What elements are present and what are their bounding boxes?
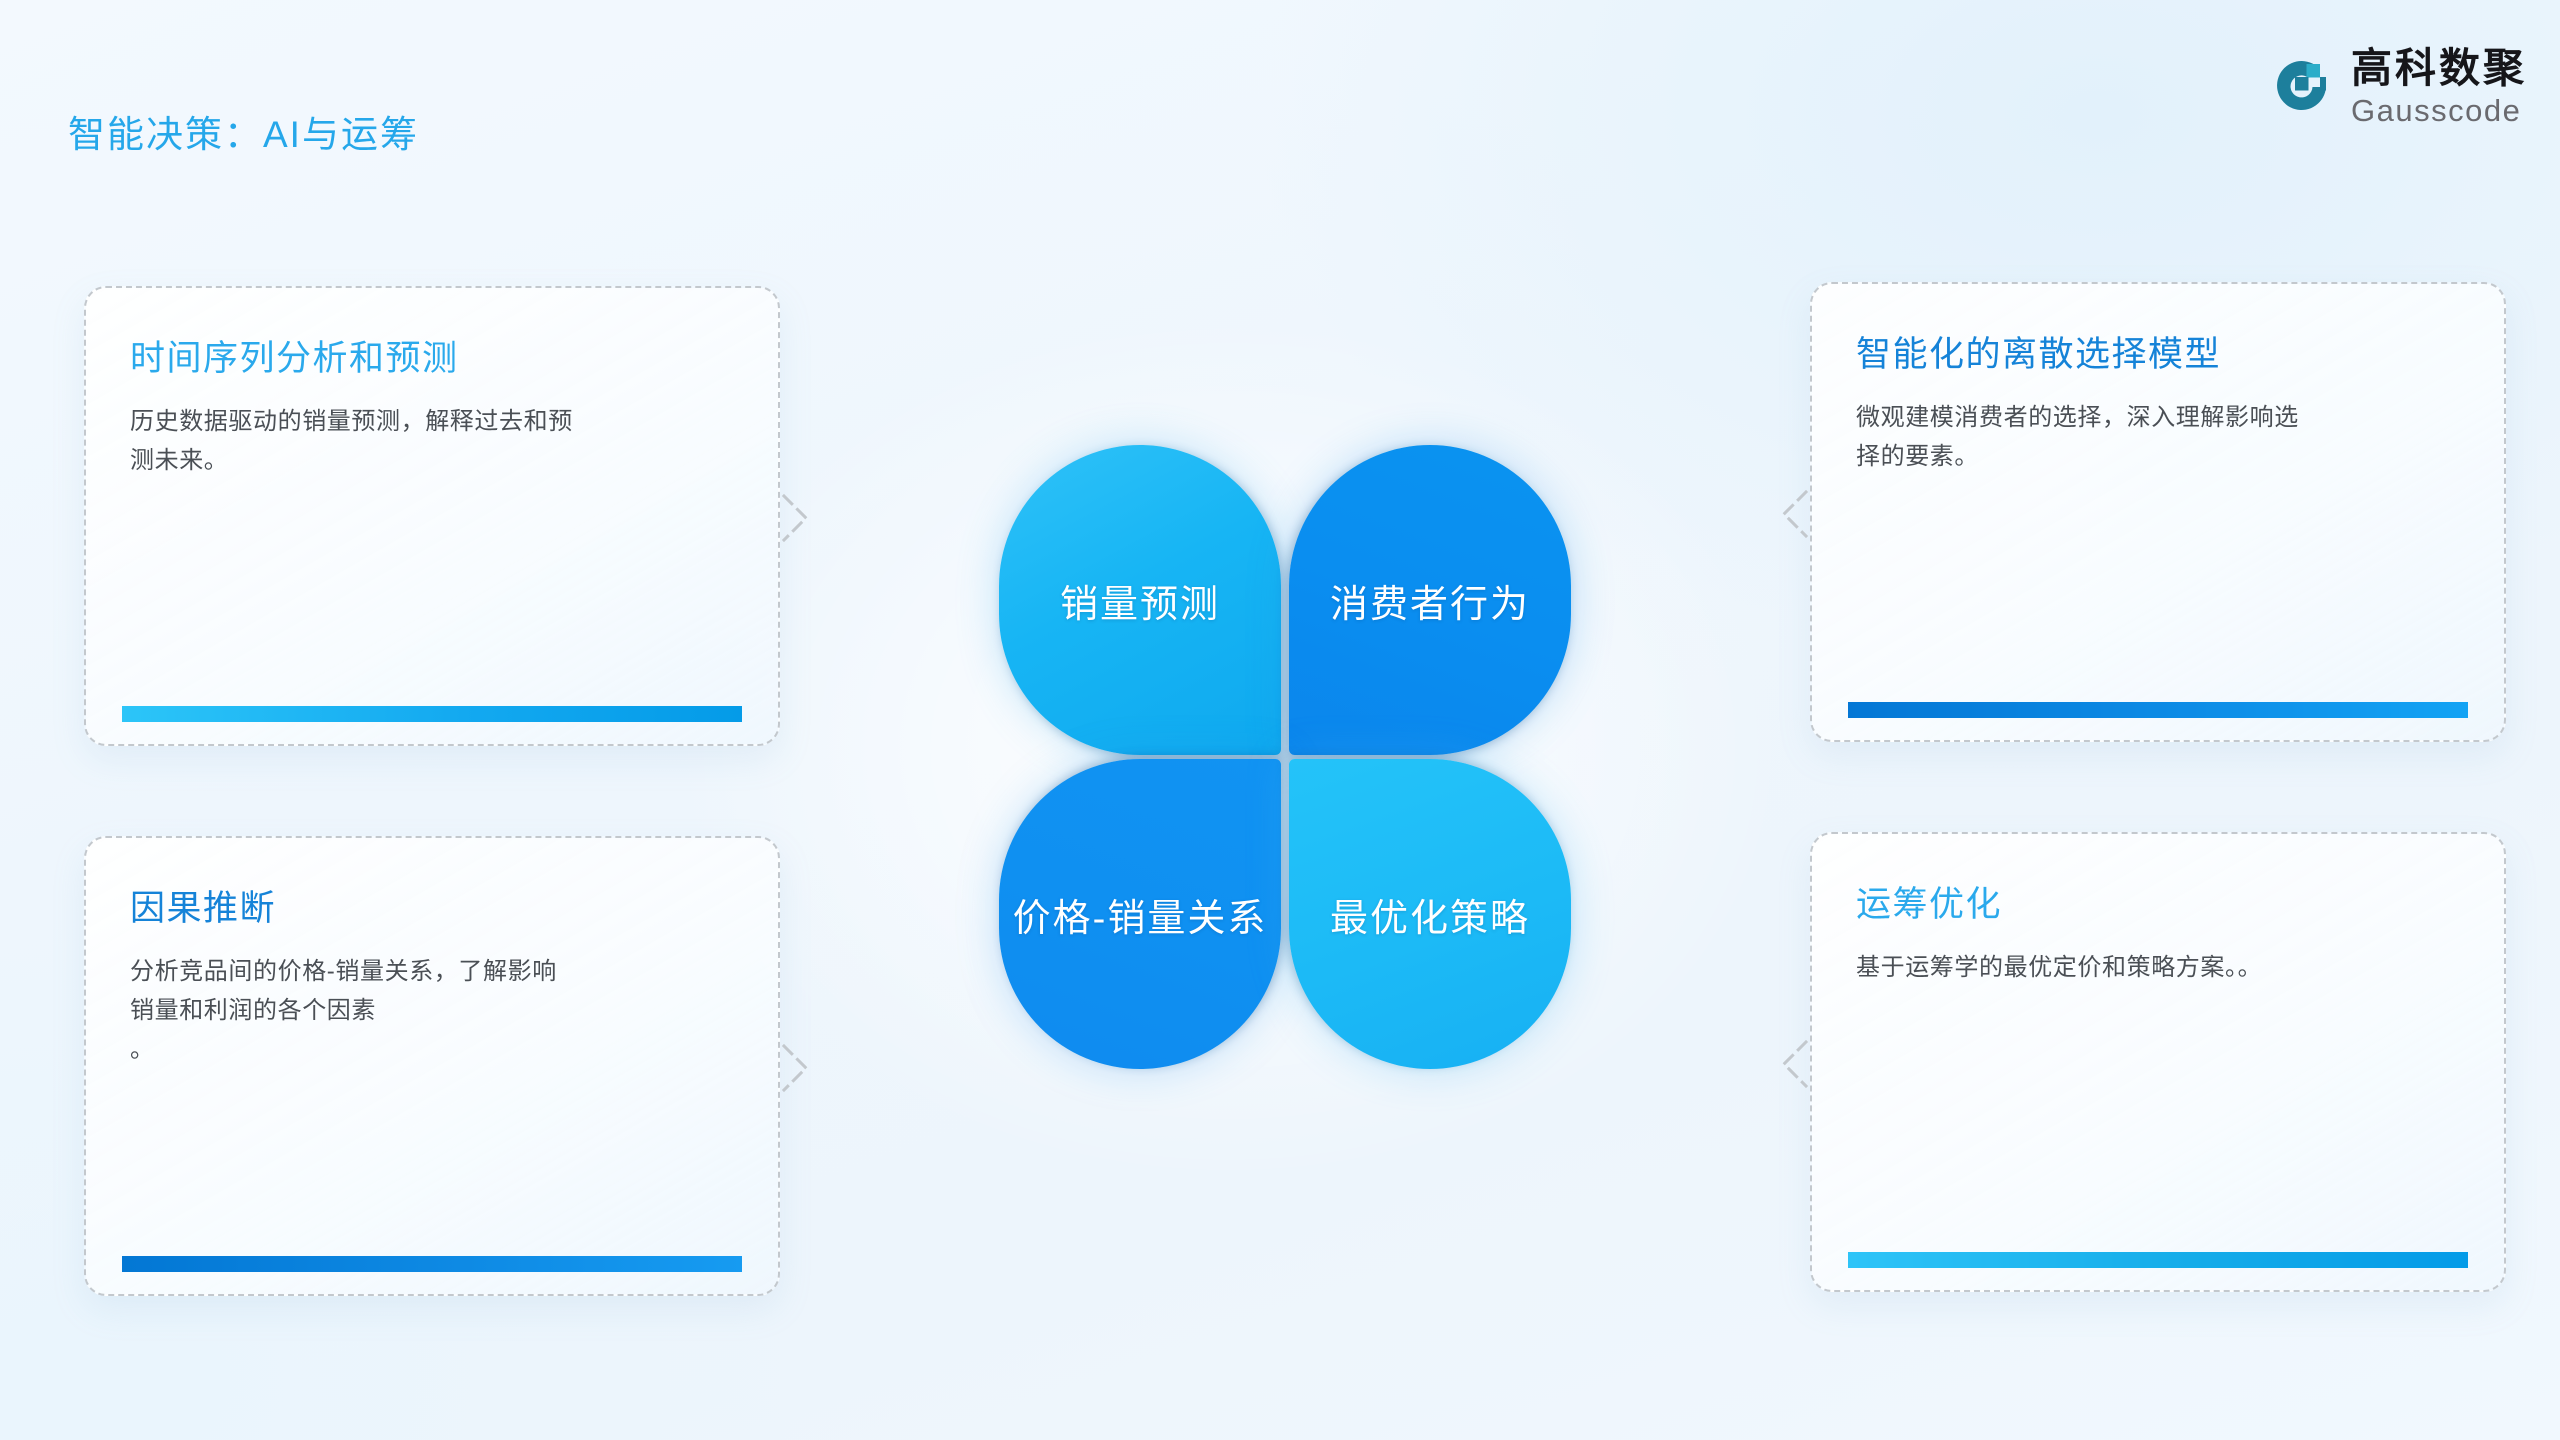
card-operations-optimization[interactable]: 运筹优化 基于运筹学的最优定价和策略方案。。 (1810, 832, 2506, 1292)
petal-optimization-strategy[interactable]: 最优化策略 (1289, 759, 1571, 1069)
card-content: 因果推断 分析竞品间的价格-销量关系，了解影响 销量和利润的各个因素 。 (130, 880, 738, 1070)
card-accent-bar (1848, 1252, 2468, 1268)
gausscode-logo-mark-icon (2273, 56, 2335, 118)
petal-sales-forecast[interactable]: 销量预测 (999, 445, 1281, 755)
chevron-right-icon (780, 1040, 814, 1096)
chevron-left-icon (1776, 1036, 1810, 1092)
petal-label: 销量预测 (1060, 573, 1220, 628)
petal-label: 最优化策略 (1330, 887, 1530, 942)
card-title: 因果推断 (130, 880, 738, 931)
page-title: 智能决策：AI与运筹 (68, 104, 419, 158)
logo-wordmark: 高科数聚 Gausscode (2351, 48, 2527, 126)
logo-name-en: Gausscode (2351, 95, 2527, 126)
card-accent-bar (122, 1256, 742, 1272)
card-discrete-choice-model[interactable]: 智能化的离散选择模型 微观建模消费者的选择，深入理解影响选 择的要素。 (1810, 282, 2506, 742)
petal-label: 消费者行为 (1330, 573, 1530, 628)
card-title: 智能化的离散选择模型 (1856, 326, 2464, 377)
card-time-series-forecast[interactable]: 时间序列分析和预测 历史数据驱动的销量预测，解释过去和预 测未来。 (84, 286, 780, 746)
brand-logo: 高科数聚 Gausscode (2273, 48, 2527, 126)
chevron-right-icon (780, 490, 814, 546)
card-body: 历史数据驱动的销量预测，解释过去和预 测未来。 (130, 403, 738, 481)
chevron-left-icon (1776, 486, 1810, 542)
card-title: 运筹优化 (1856, 876, 2464, 927)
card-accent-bar (122, 706, 742, 722)
card-body: 微观建模消费者的选择，深入理解影响选 择的要素。 (1856, 399, 2464, 477)
logo-name-cn: 高科数聚 (2351, 48, 2527, 89)
page-header: 智能决策：AI与运筹 高科数聚 Gausscode (0, 0, 2560, 175)
petal-price-sales-relation[interactable]: 价格-销量关系 (999, 759, 1281, 1069)
card-accent-bar (1848, 702, 2468, 718)
card-body: 基于运筹学的最优定价和策略方案。。 (1856, 949, 2464, 988)
petal-consumer-behavior[interactable]: 消费者行为 (1289, 445, 1571, 755)
card-content: 运筹优化 基于运筹学的最优定价和策略方案。。 (1856, 876, 2464, 988)
card-content: 时间序列分析和预测 历史数据驱动的销量预测，解释过去和预 测未来。 (130, 330, 738, 481)
card-body: 分析竞品间的价格-销量关系，了解影响 销量和利润的各个因素 。 (130, 953, 738, 1070)
card-causal-inference[interactable]: 因果推断 分析竞品间的价格-销量关系，了解影响 销量和利润的各个因素 。 (84, 836, 780, 1296)
card-content: 智能化的离散选择模型 微观建模消费者的选择，深入理解影响选 择的要素。 (1856, 326, 2464, 477)
card-title: 时间序列分析和预测 (130, 330, 738, 381)
petal-label: 价格-销量关系 (1013, 887, 1268, 942)
